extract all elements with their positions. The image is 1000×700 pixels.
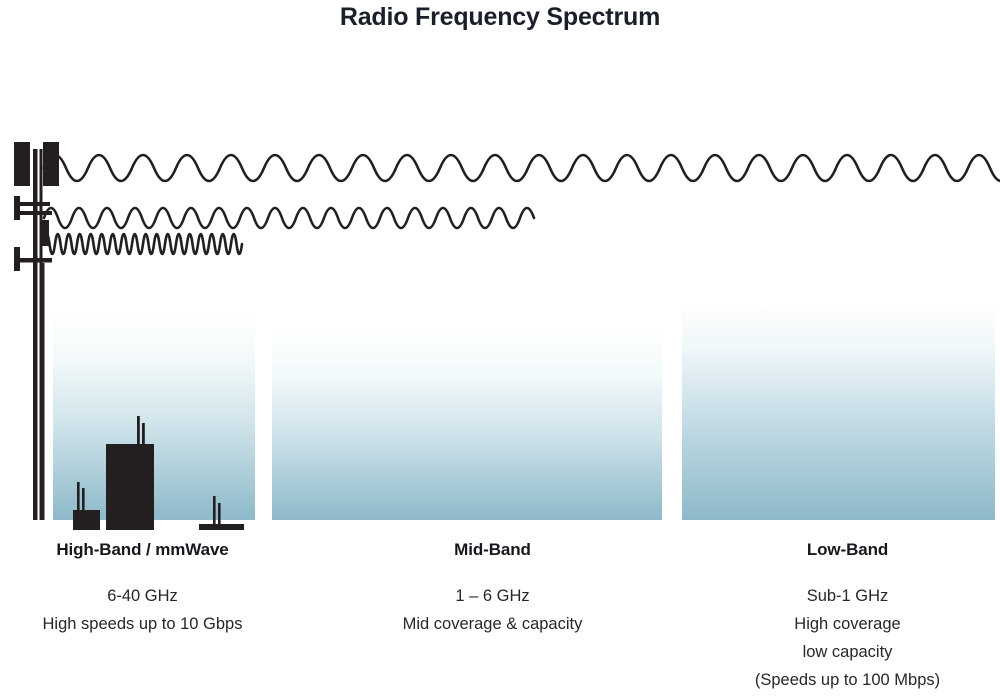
band-speed-mid-band: Mid coverage & capacity bbox=[350, 610, 635, 638]
building-antenna bbox=[218, 503, 221, 525]
band-caption-high-band: High-Band / mmWave 6-40 GHz High speeds … bbox=[0, 540, 285, 638]
building-high-4 bbox=[199, 524, 244, 530]
band-title-low-band: Low-Band bbox=[700, 540, 995, 560]
infographic-canvas: Radio Frequency Spectrum bbox=[0, 0, 1000, 700]
tower-crossarm-1b bbox=[20, 211, 52, 215]
tower-antenna-panel-right bbox=[43, 142, 59, 186]
sky-panel-mid-band bbox=[272, 325, 662, 520]
band-frequency-low-band: Sub-1 GHz bbox=[700, 582, 995, 610]
tower-crossarm-1 bbox=[20, 202, 50, 206]
band-title-mid-band: Mid-Band bbox=[350, 540, 635, 560]
band-frequency-high-band: 6-40 GHz bbox=[0, 582, 285, 610]
band-speed-high-band: High speeds up to 10 Gbps bbox=[0, 610, 285, 638]
spectrum-illustration bbox=[0, 120, 1000, 530]
band-capacity-low-band: low capacity bbox=[700, 638, 995, 666]
high-band-wave bbox=[44, 234, 242, 254]
mid-band-wave bbox=[44, 208, 534, 228]
building-high-1 bbox=[73, 510, 100, 530]
band-captions: High-Band / mmWave 6-40 GHz High speeds … bbox=[0, 540, 1000, 700]
building-antenna bbox=[213, 496, 216, 525]
low-band-wave bbox=[44, 155, 1000, 181]
band-frequency-mid-band: 1 – 6 GHz bbox=[350, 582, 635, 610]
band-coverage-low-band: High coverage bbox=[700, 610, 995, 638]
band-title-high-band: High-Band / mmWave bbox=[0, 540, 285, 560]
tower-mast-foot bbox=[41, 263, 45, 520]
cell-tower bbox=[14, 142, 59, 520]
tower-antenna-panel-left bbox=[14, 142, 30, 186]
sky-panel-low-band bbox=[682, 305, 995, 520]
spectrum-scene bbox=[0, 120, 1000, 530]
tower-antenna-small-3 bbox=[14, 247, 20, 271]
building-antenna bbox=[137, 416, 140, 445]
building-high-2 bbox=[106, 444, 154, 530]
band-caption-mid-band: Mid-Band 1 – 6 GHz Mid coverage & capaci… bbox=[350, 540, 635, 638]
page-title: Radio Frequency Spectrum bbox=[0, 3, 1000, 32]
band-caption-low-band: Low-Band Sub-1 GHz High coverage low cap… bbox=[700, 540, 995, 694]
tower-crossarm-3 bbox=[20, 258, 52, 263]
building-antenna bbox=[142, 423, 145, 445]
band-speed-low-band: (Speeds up to 100 Mbps) bbox=[700, 666, 995, 694]
tower-antenna-small-1 bbox=[14, 196, 20, 220]
tower-antenna-small-2 bbox=[42, 220, 49, 246]
